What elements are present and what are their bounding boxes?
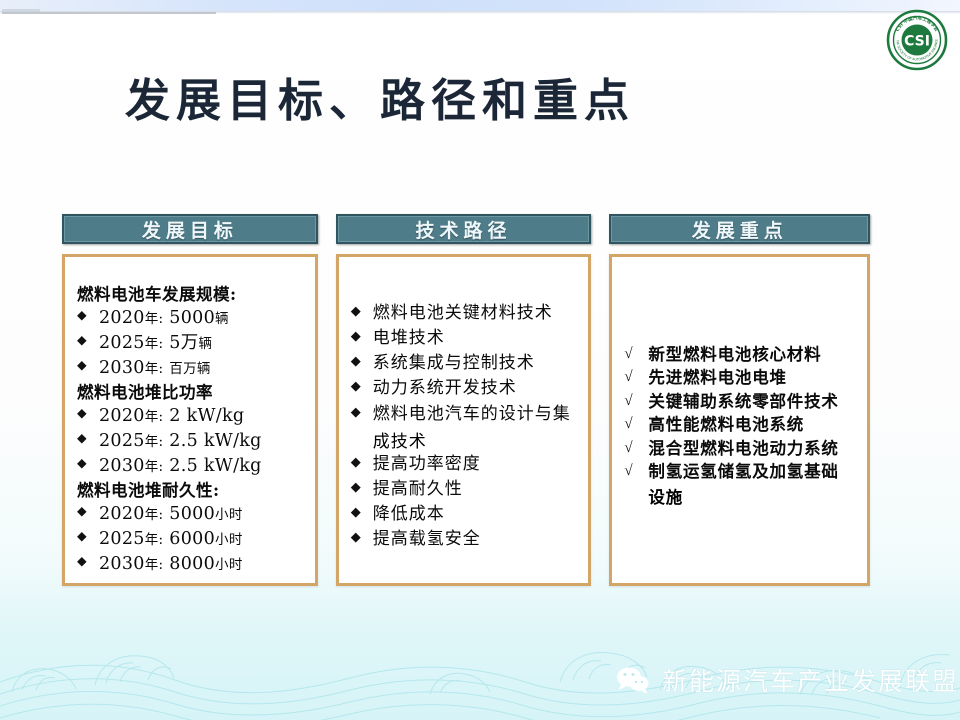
- list-item-label: 燃料电池汽车的设计与集: [373, 402, 571, 426]
- diamond-bullet-icon: ◆: [77, 356, 99, 375]
- diamond-bullet-icon: ◆: [77, 527, 99, 546]
- column-header-technology-path: 技术路径: [336, 214, 592, 244]
- item-year-unit: 年:: [145, 434, 164, 450]
- list-item-label: 燃料电池关键材料技术: [373, 301, 553, 325]
- list-item: √ 高性能燃料电池系统: [624, 413, 861, 436]
- diamond-bullet-icon: ◆: [77, 404, 99, 423]
- list-item-label: 混合型燃料电池动力系统: [648, 437, 838, 460]
- content-columns: 发展目标 燃料电池车发展规模: ◆ 2020年: 5000辆 ◆ 2025年: …: [62, 214, 870, 586]
- list-item-continuation: 成技术: [373, 427, 583, 452]
- list-item: ◆ 2025年: 2.5 kW/kg: [77, 429, 309, 454]
- list-item-label: 动力系统开发技术: [373, 376, 517, 400]
- item-year: 2030: [99, 456, 145, 476]
- wave-decoration: [0, 590, 960, 720]
- list-item-label: 提高功率密度: [373, 452, 481, 476]
- footer: 新能源汽车产业发展联盟: [616, 662, 959, 698]
- list-item: ◆ 2030年: 8000小时: [77, 552, 309, 577]
- list-item: ◆ 2020年: 5000小时: [77, 502, 309, 527]
- list-item: ◆ 提高载氢安全: [351, 527, 583, 551]
- item-year: 2025: [99, 333, 145, 353]
- list-item: ◆ 2030年: 百万辆: [77, 356, 309, 381]
- item-value-unit: 辆: [197, 361, 211, 377]
- diamond-bullet-icon: ◆: [77, 454, 99, 473]
- diamond-bullet-icon: ◆: [351, 376, 373, 396]
- diamond-bullet-icon: ◆: [351, 301, 373, 321]
- item-year-unit: 年:: [145, 409, 164, 425]
- list-item: √ 制氢运氢储氢及加氢基础: [624, 460, 861, 483]
- diamond-bullet-icon: ◆: [351, 402, 373, 422]
- item-value-unit: 辆: [215, 311, 229, 327]
- check-bullet-icon: √: [624, 343, 648, 366]
- check-bullet-icon: √: [624, 413, 648, 436]
- check-bullet-icon: √: [624, 460, 648, 483]
- list-item: √ 先进燃料电池电堆: [624, 366, 861, 389]
- item-value: 5000: [169, 504, 215, 524]
- check-bullet-icon: √: [624, 390, 648, 413]
- list-item: ◆ 降低成本: [351, 502, 583, 526]
- list-item: ◆ 燃料电池关键材料技术: [351, 301, 583, 325]
- item-year-unit: 年:: [145, 336, 164, 352]
- list-item-label: 系统集成与控制技术: [373, 351, 535, 375]
- diamond-bullet-icon: ◆: [77, 306, 99, 325]
- top-gradient-strip: [0, 0, 960, 11]
- item-year-unit: 年:: [145, 361, 164, 377]
- item-value: 2 kW/kg: [169, 406, 244, 426]
- top-rule-line: [2, 12, 216, 14]
- item-year: 2025: [99, 529, 145, 549]
- column-header-development-focus: 发展重点: [609, 214, 870, 244]
- wechat-icon: [616, 665, 650, 695]
- footer-label: 新能源汽车产业发展联盟: [662, 662, 959, 698]
- list-item: ◆ 2025年: 6000小时: [77, 527, 309, 552]
- item-year-unit: 年:: [145, 557, 164, 573]
- item-value-unit: 小时: [215, 532, 243, 548]
- item-year-unit: 年:: [145, 311, 164, 327]
- list-item: ◆ 2025年: 5万辆: [77, 331, 309, 356]
- list-item-label: 新型燃料电池核心材料: [648, 343, 821, 366]
- diamond-bullet-icon: ◆: [77, 502, 99, 521]
- item-value: 5000: [169, 308, 215, 328]
- item-value: 2.5 kW/kg: [169, 431, 261, 451]
- item-value: 6000: [169, 529, 215, 549]
- column-development-focus: 发展重点 √ 新型燃料电池核心材料 √ 先进燃料电池电堆 √ 关键辅助系统零部件…: [609, 214, 870, 586]
- list-item: √ 新型燃料电池核心材料: [624, 343, 861, 366]
- list-item: ◆ 2020年: 5000辆: [77, 306, 309, 331]
- column-body-development-goals: 燃料电池车发展规模: ◆ 2020年: 5000辆 ◆ 2025年: 5万辆 ◆…: [62, 254, 318, 586]
- svg-text:CSI: CSI: [904, 34, 930, 50]
- diamond-bullet-icon: ◆: [351, 452, 373, 472]
- list-item: ◆ 2020年: 2 kW/kg: [77, 404, 309, 429]
- list-item: ◆ 2030年: 2.5 kW/kg: [77, 454, 309, 479]
- item-year: 2030: [99, 358, 145, 378]
- diamond-bullet-icon: ◆: [351, 502, 373, 522]
- diamond-bullet-icon: ◆: [77, 331, 99, 350]
- item-value: 5万: [169, 333, 198, 353]
- diamond-bullet-icon: ◆: [77, 429, 99, 448]
- page-title: 发展目标、路径和重点: [0, 64, 760, 129]
- list-item: ◆ 动力系统开发技术: [351, 376, 583, 400]
- item-value-unit: 小时: [215, 557, 243, 573]
- list-item-label: 关键辅助系统零部件技术: [648, 390, 838, 413]
- list-item-label: 先进燃料电池电堆: [648, 366, 786, 389]
- csi-seal-logo: CSI CSI 中国汽车工程学会 CHINA SOCIETY OF AUTOMO…: [886, 9, 948, 71]
- list-item: ◆ 燃料电池汽车的设计与集: [351, 402, 583, 426]
- list-item-label: 降低成本: [373, 502, 445, 526]
- slide-canvas: CSI CSI 中国汽车工程学会 CHINA SOCIETY OF AUTOMO…: [0, 0, 960, 720]
- column-body-development-focus: √ 新型燃料电池核心材料 √ 先进燃料电池电堆 √ 关键辅助系统零部件技术 √ …: [609, 254, 870, 586]
- list-item-label: 提高耐久性: [373, 477, 463, 501]
- check-bullet-icon: √: [624, 437, 648, 460]
- column-body-technology-path: ◆ 燃料电池关键材料技术 ◆ 电堆技术 ◆ 系统集成与控制技术 ◆ 动力系统开发…: [336, 254, 592, 586]
- item-value-unit: 小时: [215, 507, 243, 523]
- item-year: 2025: [99, 431, 145, 451]
- list-item: √ 关键辅助系统零部件技术: [624, 390, 861, 413]
- column-development-goals: 发展目标 燃料电池车发展规模: ◆ 2020年: 5000辆 ◆ 2025年: …: [62, 214, 318, 586]
- item-year-unit: 年:: [145, 507, 164, 523]
- list-item-label: 提高载氢安全: [373, 527, 481, 551]
- item-value: 百万: [169, 361, 197, 377]
- item-year: 2030: [99, 554, 145, 574]
- item-value: 2.5 kW/kg: [169, 456, 261, 476]
- item-year-unit: 年:: [145, 532, 164, 548]
- group-heading: 燃料电池堆比功率: [77, 381, 309, 404]
- diamond-bullet-icon: ◆: [351, 351, 373, 371]
- item-year: 2020: [99, 308, 145, 328]
- diamond-bullet-icon: ◆: [351, 326, 373, 346]
- group-heading: 燃料电池堆耐久性:: [77, 479, 309, 502]
- list-item-label: 高性能燃料电池系统: [648, 413, 804, 436]
- check-bullet-icon: √: [624, 366, 648, 389]
- list-item: ◆ 系统集成与控制技术: [351, 351, 583, 375]
- item-year-unit: 年:: [145, 459, 164, 475]
- column-header-development-goals: 发展目标: [62, 214, 318, 244]
- list-item-continuation: 设施: [648, 484, 861, 508]
- list-item-label: 电堆技术: [373, 326, 445, 350]
- group-heading: 燃料电池车发展规模:: [77, 283, 309, 306]
- item-year: 2020: [99, 504, 145, 524]
- item-value-unit: 辆: [199, 336, 213, 352]
- list-item: ◆ 提高功率密度: [351, 452, 583, 476]
- list-item: ◆ 提高耐久性: [351, 477, 583, 501]
- diamond-bullet-icon: ◆: [351, 477, 373, 497]
- item-value: 8000: [169, 554, 215, 574]
- list-item: √ 混合型燃料电池动力系统: [624, 437, 861, 460]
- diamond-bullet-icon: ◆: [77, 552, 99, 571]
- item-year: 2020: [99, 406, 145, 426]
- list-item-label: 制氢运氢储氢及加氢基础: [648, 460, 838, 483]
- column-technology-path: 技术路径 ◆ 燃料电池关键材料技术 ◆ 电堆技术 ◆ 系统集成与控制技术: [336, 214, 592, 586]
- diamond-bullet-icon: ◆: [351, 527, 373, 547]
- list-item: ◆ 电堆技术: [351, 326, 583, 350]
